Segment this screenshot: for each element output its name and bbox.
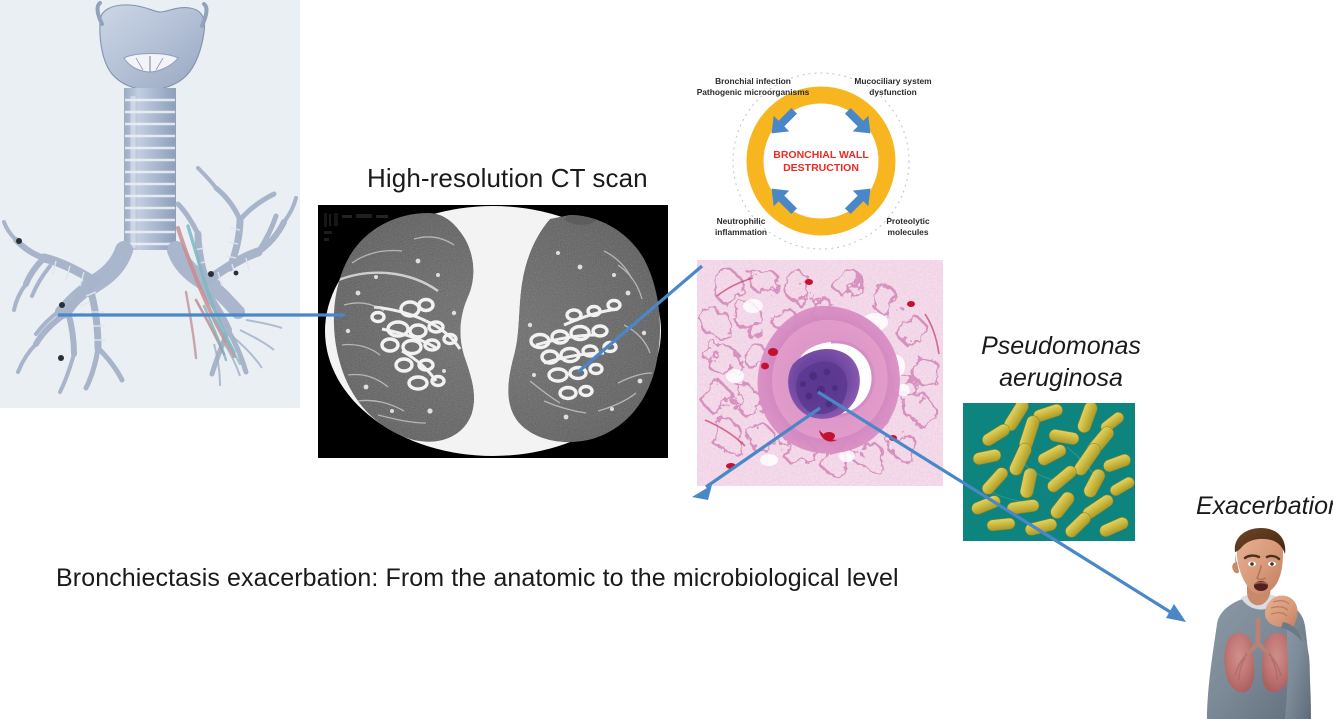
node-bottom-left-line1: Neutrophilic <box>717 216 766 226</box>
bacteria-graphic <box>963 403 1135 541</box>
node-top-right-line2: dysfunction <box>869 87 916 97</box>
pseudomonas-micrograph <box>963 403 1135 541</box>
he-stained-bronchiole <box>697 260 943 486</box>
ct-scan-graphic <box>318 205 668 458</box>
slide-caption: Bronchiectasis exacerbation: From the an… <box>56 564 899 593</box>
node-bottom-left-line2: inflammation <box>715 227 767 237</box>
vicious-circle-diagram: BRONCHIAL WALL DESTRUCTION Bronchial inf… <box>671 62 971 260</box>
bronchial-tree-illustration <box>0 0 300 408</box>
pseudomonas-label: Pseudomonas aeruginosa <box>963 330 1159 394</box>
center-text-line2: DESTRUCTION <box>783 162 859 174</box>
coughing-patient-illustration <box>1183 528 1333 719</box>
ct-scan-label: High-resolution CT scan <box>367 163 648 194</box>
node-bottom-right-line1: Proteolytic <box>886 216 930 226</box>
vicious-circle-graphic: BRONCHIAL WALL DESTRUCTION Bronchial inf… <box>671 62 971 260</box>
node-bottom-right-line2: molecules <box>888 227 929 237</box>
hrct-axial-slice <box>318 205 668 458</box>
patient-graphic <box>1183 528 1333 719</box>
exacerbation-label: Exacerbation <box>1196 492 1333 521</box>
center-text-line1: BRONCHIAL WALL <box>773 149 869 161</box>
histology-graphic <box>697 260 943 486</box>
node-top-right-line1: Mucociliary system <box>854 76 931 86</box>
node-top-left-line2: Pathogenic microorganisms <box>697 87 810 97</box>
node-top-left-line1: Bronchial infection <box>715 76 791 86</box>
bronchial-tree-graphic <box>0 0 300 408</box>
slide-canvas: BRONCHIAL WALL DESTRUCTION Bronchial inf… <box>0 0 1333 719</box>
